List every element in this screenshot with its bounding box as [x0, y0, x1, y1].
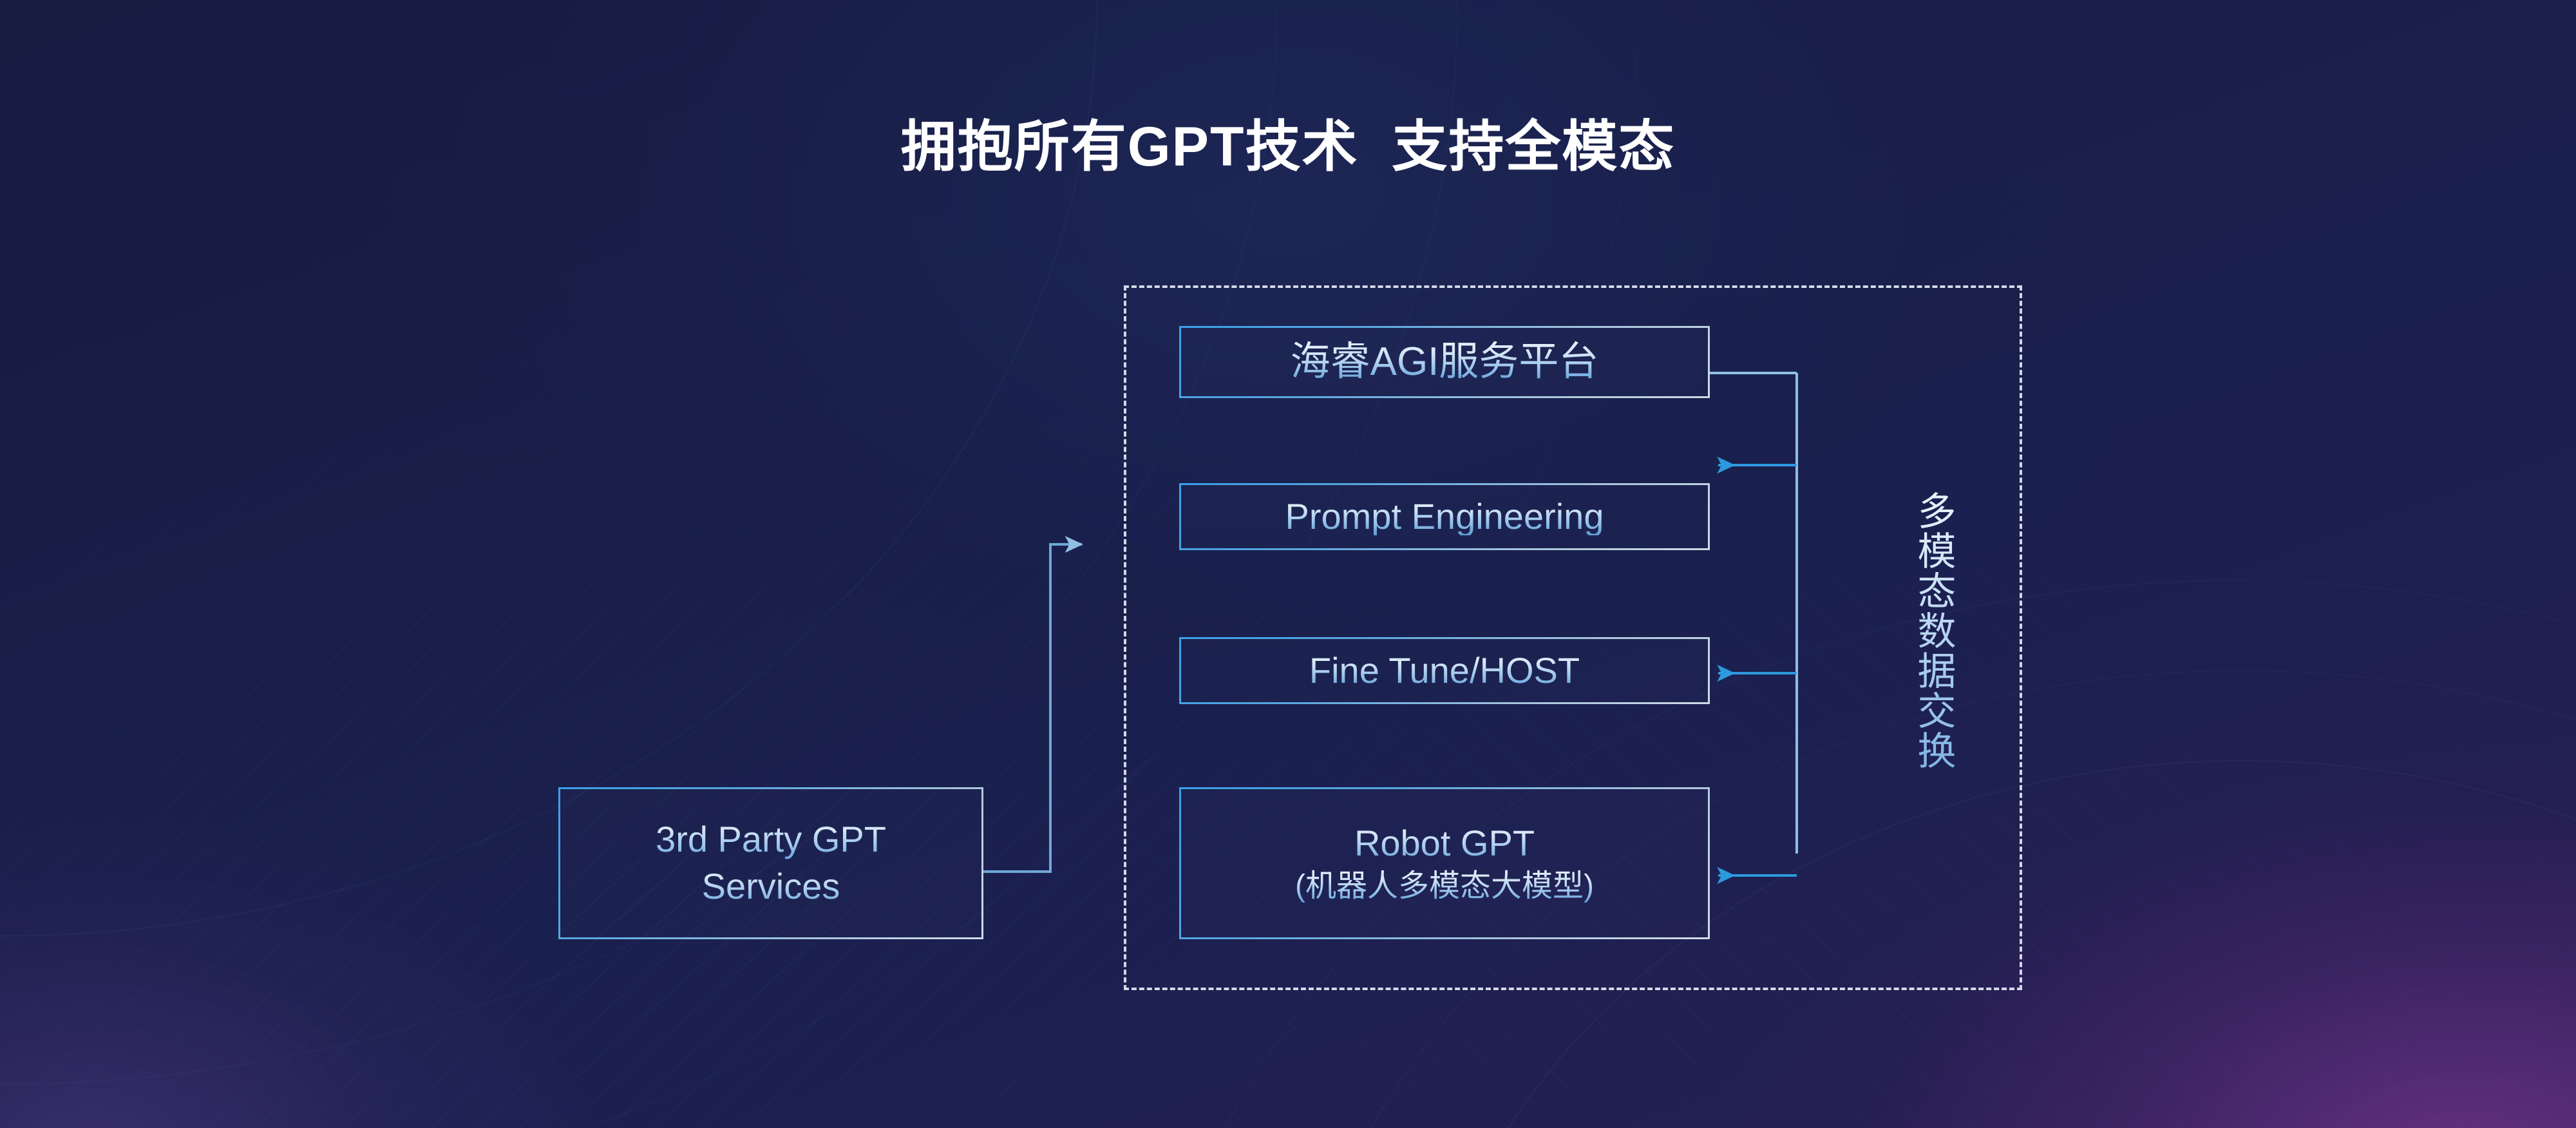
box-robot-sublabel: (机器人多模态大模型): [1295, 868, 1594, 905]
box-prompt-engineering[interactable]: Prompt Engineering: [1179, 483, 1710, 550]
box-thirdparty-label-line1: 3rd Party GPT: [656, 816, 886, 863]
box-finetune-label: Fine Tune/HOST: [1309, 652, 1580, 690]
box-thirdparty-label-line2: Services: [702, 863, 840, 910]
box-robot-label: Robot GPT: [1354, 822, 1535, 865]
thirdparty-wire: [983, 544, 1082, 872]
box-agi-platform[interactable]: 海睿AGI服务平台: [1179, 326, 1710, 398]
box-agi-label: 海睿AGI服务平台: [1291, 341, 1599, 383]
slide-canvas: 拥抱所有GPT技术 支持全模态: [0, 0, 2576, 1128]
box-prompt-label: Prompt Engineering: [1285, 498, 1604, 536]
side-label-multimodal-data-exchange: 多模态数据交换: [1901, 491, 1959, 770]
box-third-party-gpt-services[interactable]: 3rd Party GPT Services: [558, 787, 983, 939]
slide-title: 拥抱所有GPT技术 支持全模态: [0, 119, 2576, 175]
box-fine-tune-host[interactable]: Fine Tune/HOST: [1179, 637, 1710, 704]
box-robot-gpt[interactable]: Robot GPT (机器人多模态大模型): [1179, 787, 1710, 939]
